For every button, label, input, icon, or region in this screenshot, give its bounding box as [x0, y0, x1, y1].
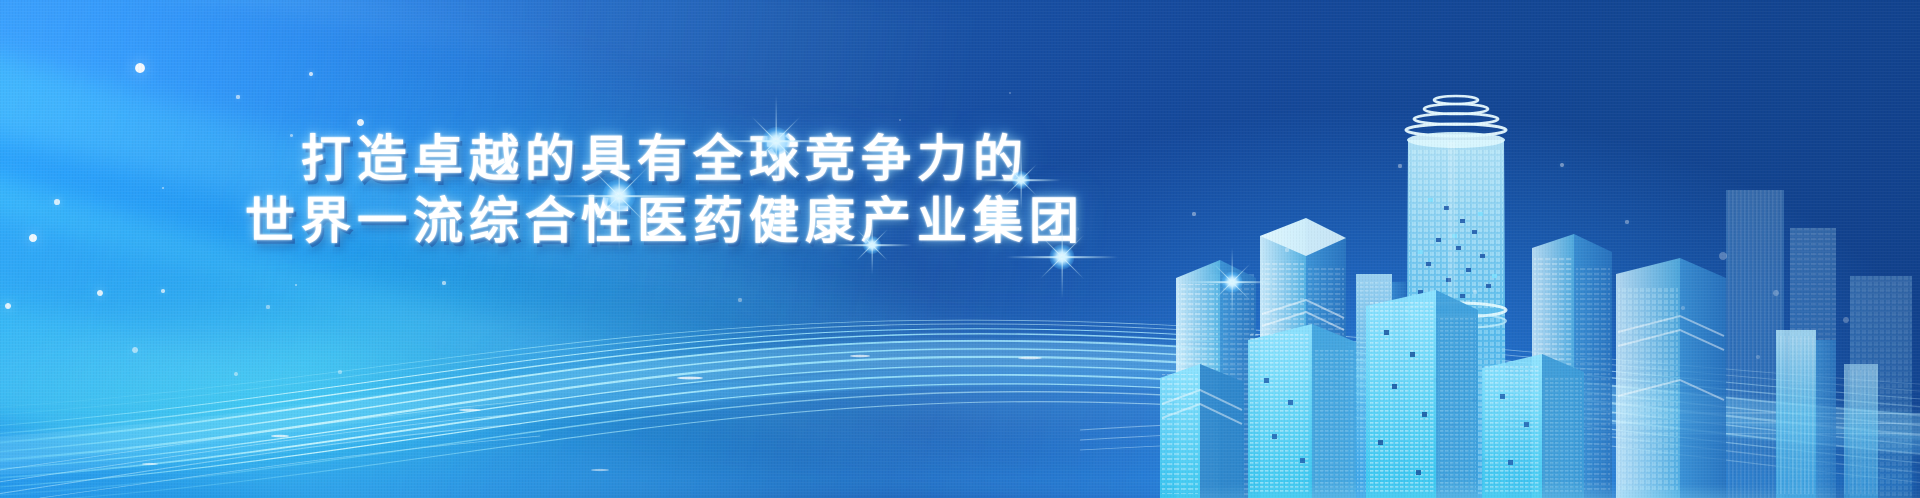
light-particle: [1560, 163, 1564, 167]
light-band: [0, 60, 1214, 498]
light-particle: [1398, 164, 1401, 167]
light-particle: [234, 372, 238, 376]
flare-ray: [1231, 248, 1232, 317]
building-wide-stepped: [1616, 258, 1726, 498]
light-particle: [135, 63, 145, 73]
light-particle: [899, 119, 902, 122]
building-stepped-tower: [1260, 218, 1346, 498]
light-particle: [1681, 306, 1686, 311]
mist-wave: [1150, 355, 1920, 498]
light-particle: [1773, 290, 1779, 296]
light-particle: [1756, 355, 1760, 359]
light-particle: [357, 119, 364, 126]
bottom-glow: [0, 420, 1920, 498]
mist-wave: [0, 214, 1284, 487]
building-foreground-bright-b: [1366, 290, 1478, 498]
building-thin-pillar: [1356, 274, 1406, 498]
flare-ray: [1214, 264, 1250, 300]
headline-line-1: 打造卓越的具有全球竞争力的: [0, 128, 1330, 190]
light-particle: [1719, 252, 1727, 260]
light-particle: [1625, 220, 1628, 223]
light-particle: [266, 305, 269, 308]
light-particle: [738, 298, 741, 301]
light-particle: [309, 72, 313, 76]
headline-line-2: 世界一流综合性医药健康产业集团: [0, 190, 1330, 252]
flare-ray: [1006, 256, 1118, 258]
flare-core: [1222, 272, 1243, 293]
flare-ray: [1186, 281, 1278, 283]
light-particle: [1843, 317, 1849, 323]
flare-ray: [1214, 264, 1250, 300]
light-particle: [338, 370, 342, 374]
light-particle: [1009, 92, 1012, 95]
light-particle: [97, 290, 103, 296]
light-particle: [236, 95, 239, 98]
light-particle: [161, 289, 165, 293]
light-band: [0, 0, 978, 137]
building-right-slab: [1532, 234, 1612, 498]
light-particle: [295, 284, 298, 287]
building-left-slim: [1176, 260, 1256, 498]
building-central-tower: [1406, 96, 1506, 498]
hero-banner: 打造卓越的具有全球竞争力的 世界一流综合性医药健康产业集团: [0, 0, 1920, 498]
mist-wave: [0, 330, 840, 498]
light-particle: [442, 281, 446, 285]
headline-block: 打造卓越的具有全球竞争力的 世界一流综合性医药健康产业集团: [0, 128, 1330, 252]
building-far-right: [1776, 330, 1878, 498]
building-foreground-left: [1160, 364, 1244, 498]
building-foreground-c: [1482, 354, 1584, 498]
light-particle: [5, 303, 11, 309]
building-foreground-bright-a: [1248, 324, 1356, 498]
light-particle: [132, 347, 139, 354]
mist-wave: [377, 267, 1884, 498]
light-particle: [1473, 290, 1476, 293]
